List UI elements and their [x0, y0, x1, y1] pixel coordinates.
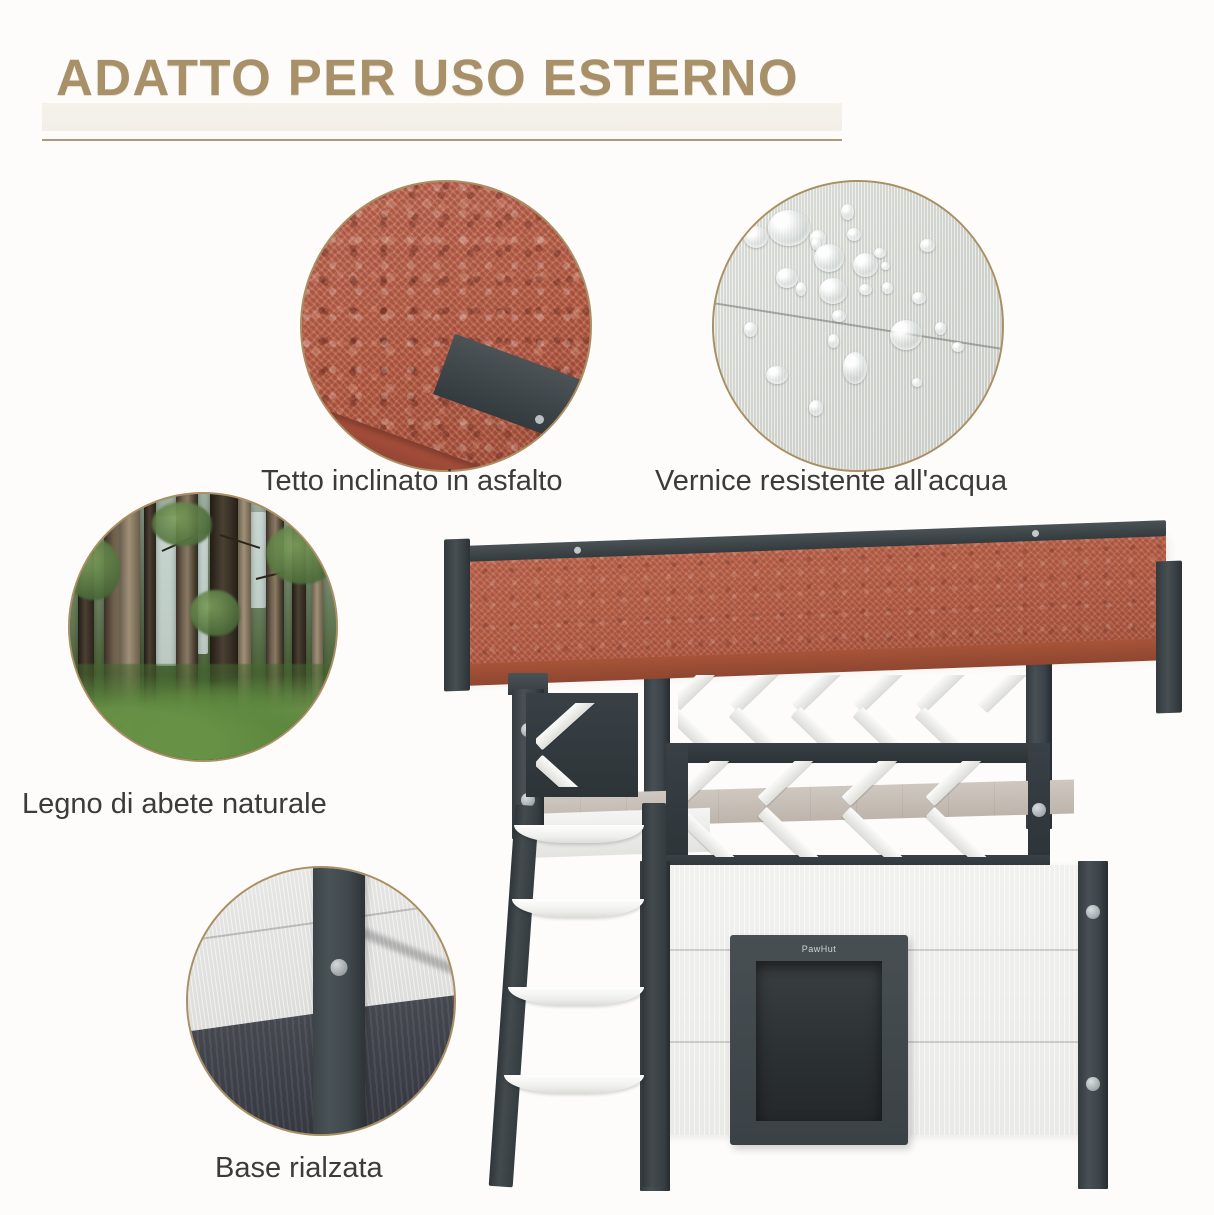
water-droplet	[843, 352, 867, 384]
lattice-bar	[915, 707, 986, 745]
water-droplet	[912, 378, 922, 387]
water-droplet	[881, 262, 890, 270]
door-opening	[756, 961, 882, 1121]
page-title: ADATTO PER USO ESTERNO	[56, 48, 799, 107]
side-lattice-frame	[526, 693, 638, 797]
water-droplet	[809, 400, 823, 416]
feature-caption-raised-base: Base rialzata	[215, 1152, 383, 1185]
lattice-bar	[757, 807, 852, 857]
lattice-bar	[678, 675, 738, 712]
feature-caption-water-resistance: Vernice resistente all'acqua	[655, 465, 1007, 498]
water-droplet	[744, 322, 757, 337]
roof-screw-icon	[1032, 530, 1039, 537]
feature-image-fir-wood	[68, 492, 338, 762]
lattice-bar	[925, 761, 1020, 806]
water-droplet	[832, 310, 846, 322]
foliage-cluster	[190, 590, 240, 636]
ladder-step	[508, 987, 644, 1005]
water-droplet	[890, 320, 922, 350]
lattice-bar	[536, 703, 623, 750]
lattice-bar	[678, 707, 738, 745]
feature-image-raised-base	[186, 866, 456, 1136]
ladder-rail-right	[642, 803, 666, 1187]
feature-image-roof	[300, 180, 592, 472]
water-droplet	[952, 342, 964, 352]
foliage-cluster	[266, 524, 336, 584]
ladder-step	[512, 899, 644, 917]
lattice-bar	[925, 807, 1020, 857]
water-droplet	[847, 228, 861, 241]
water-droplet	[874, 248, 886, 258]
front-right-leg-post	[1078, 861, 1108, 1189]
railing-right-stile	[1028, 743, 1050, 873]
lattice-bar	[853, 675, 924, 712]
upper-lattice-band	[678, 675, 1034, 745]
lattice-bar	[688, 807, 769, 857]
roof-screw-icon	[535, 415, 544, 424]
roof-screw-icon	[574, 547, 581, 554]
brand-logo: PawHut	[802, 944, 837, 954]
water-droplet	[920, 239, 935, 252]
roof-side-trim-right	[1156, 561, 1182, 714]
water-droplet	[882, 282, 893, 294]
railing-top-rail	[666, 743, 1050, 763]
side-lattice	[536, 703, 628, 787]
water-droplet	[814, 244, 844, 272]
water-droplet	[841, 204, 854, 220]
lattice-bar	[791, 707, 862, 745]
water-droplet	[744, 226, 768, 248]
water-droplet	[796, 282, 806, 296]
lattice-bar	[915, 675, 986, 712]
lattice-bar	[688, 761, 769, 806]
water-droplet	[912, 292, 926, 304]
lattice-bar	[729, 675, 800, 712]
title-divider-rule	[42, 139, 842, 141]
feature-caption-fir-wood: Legno di abete naturale	[22, 788, 327, 821]
lattice-bar	[536, 755, 623, 787]
infographic-canvas: ADATTO PER USO ESTERNO Tetto inclinato i…	[0, 0, 1214, 1214]
lattice-bar	[757, 761, 852, 806]
railing-lattice	[688, 761, 1028, 857]
foliage-cluster	[68, 538, 120, 600]
screw-icon	[1032, 803, 1046, 817]
water-droplet	[853, 253, 878, 277]
forest-underbrush	[68, 664, 338, 762]
cat-entrance-door: PawHut	[730, 935, 908, 1145]
lattice-bar	[853, 707, 924, 745]
leg-screw-icon	[331, 959, 348, 976]
water-droplet	[935, 322, 946, 335]
lattice-bar	[841, 761, 936, 806]
water-droplet	[776, 268, 798, 288]
railing-left-stile	[666, 743, 688, 873]
screw-icon	[1086, 905, 1100, 919]
water-droplet	[768, 210, 810, 246]
water-droplet	[766, 366, 788, 384]
roof-side-trim-left	[444, 539, 470, 692]
water-droplet	[859, 284, 872, 295]
water-droplet	[819, 278, 847, 304]
lattice-bar	[977, 675, 1034, 712]
water-droplet	[828, 334, 839, 348]
lattice-bar	[841, 807, 936, 857]
lattice-bar	[791, 675, 862, 712]
lattice-bar	[729, 707, 800, 745]
foliage-cluster	[152, 502, 212, 546]
screw-icon	[1086, 1077, 1100, 1091]
product-image-cat-house: PawHut	[430, 525, 1214, 1215]
feature-image-water-resistance	[712, 180, 1004, 472]
support-leg-post	[313, 866, 365, 1136]
title-highlight-band	[42, 103, 842, 131]
ladder-step	[504, 1075, 644, 1093]
